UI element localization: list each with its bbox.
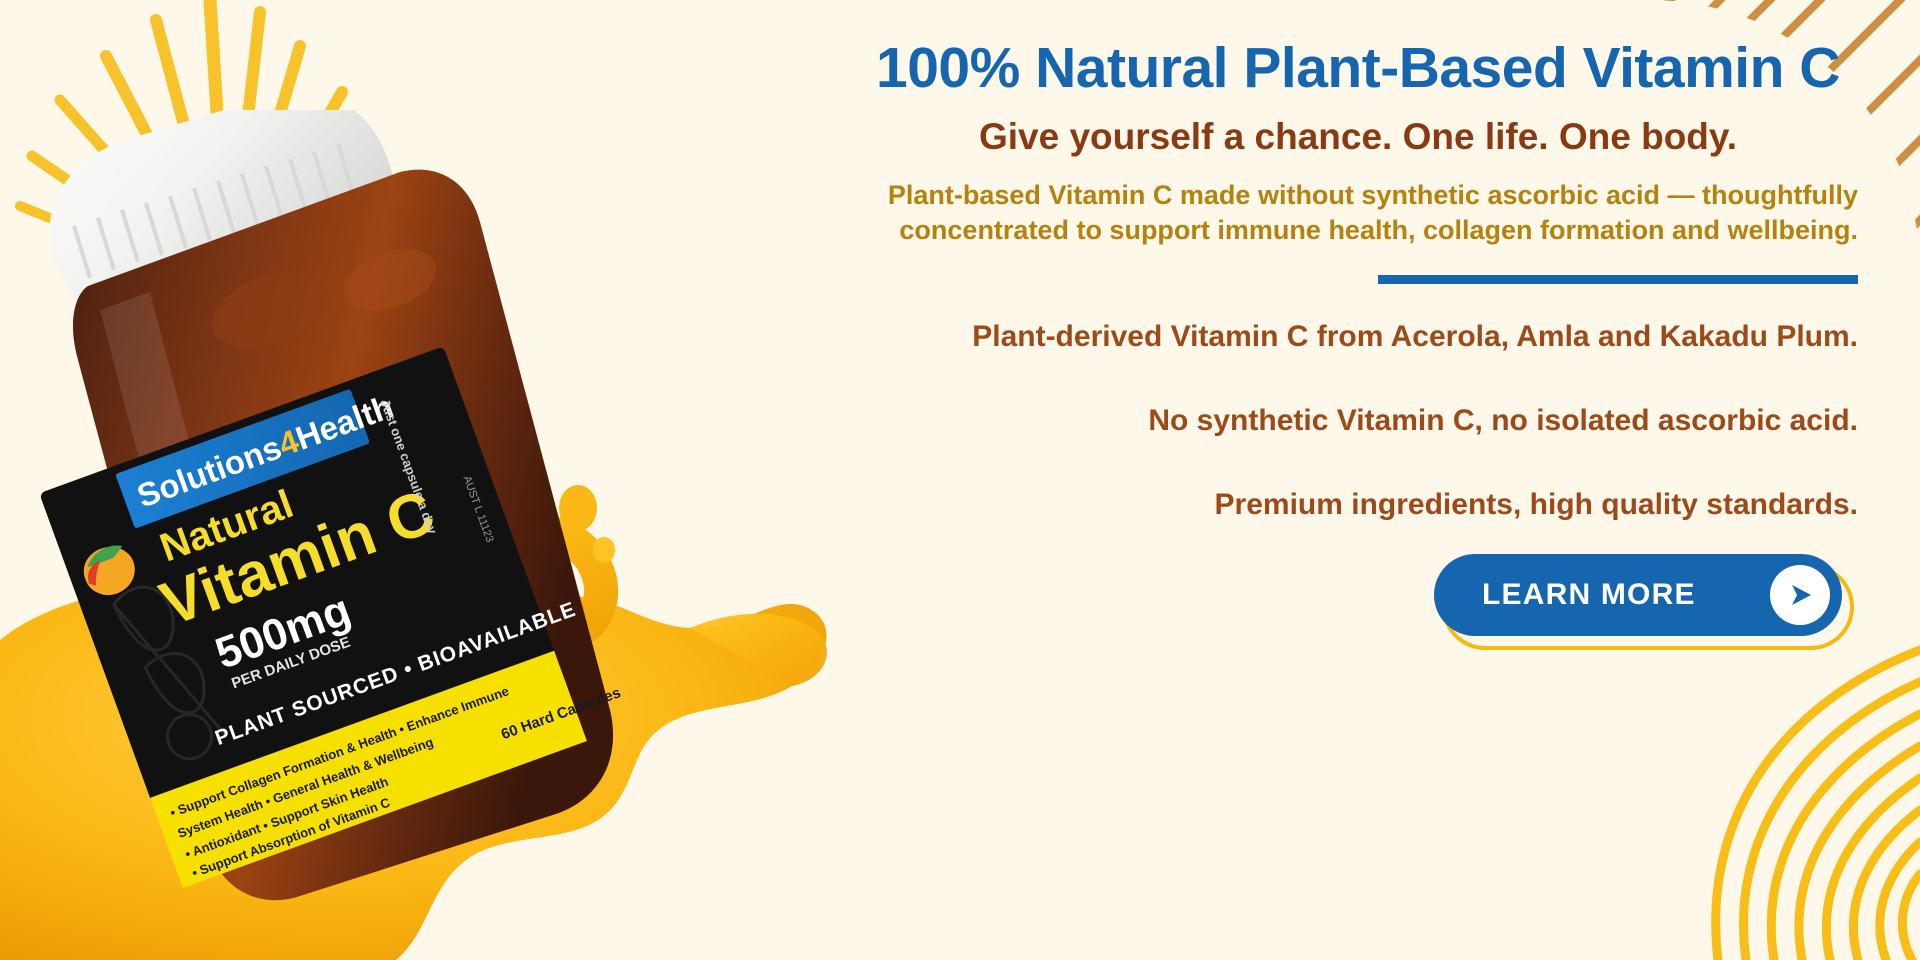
benefit-item-2: No synthetic Vitamin C, no isolated asco…	[528, 402, 1858, 440]
arrow-right-icon	[1770, 565, 1830, 625]
content-column: 100% Natural Plant-Based Vitamin C Give …	[528, 0, 1858, 960]
learn-more-label: LEARN MORE	[1482, 578, 1696, 612]
lede-paragraph: Plant-based Vitamin C made without synth…	[528, 178, 1858, 247]
benefit-item-3: Premium ingredients, high quality standa…	[528, 486, 1858, 524]
learn-more-button[interactable]: LEARN MORE	[1434, 554, 1842, 636]
page-title: 100% Natural Plant-Based Vitamin C	[528, 38, 1858, 100]
blue-divider	[1378, 275, 1858, 284]
cta-wrapper: LEARN MORE	[1434, 554, 1854, 650]
cta-row: LEARN MORE	[528, 554, 1858, 650]
benefit-item-1: Plant-derived Vitamin C from Acerola, Am…	[528, 318, 1858, 356]
sub-headline: Give yourself a chance. One life. One bo…	[528, 116, 1858, 159]
benefits-list: Plant-derived Vitamin C from Acerola, Am…	[528, 318, 1858, 523]
promo-banner: Solutions4Health Natural Vitamin C 500mg	[0, 0, 1920, 960]
